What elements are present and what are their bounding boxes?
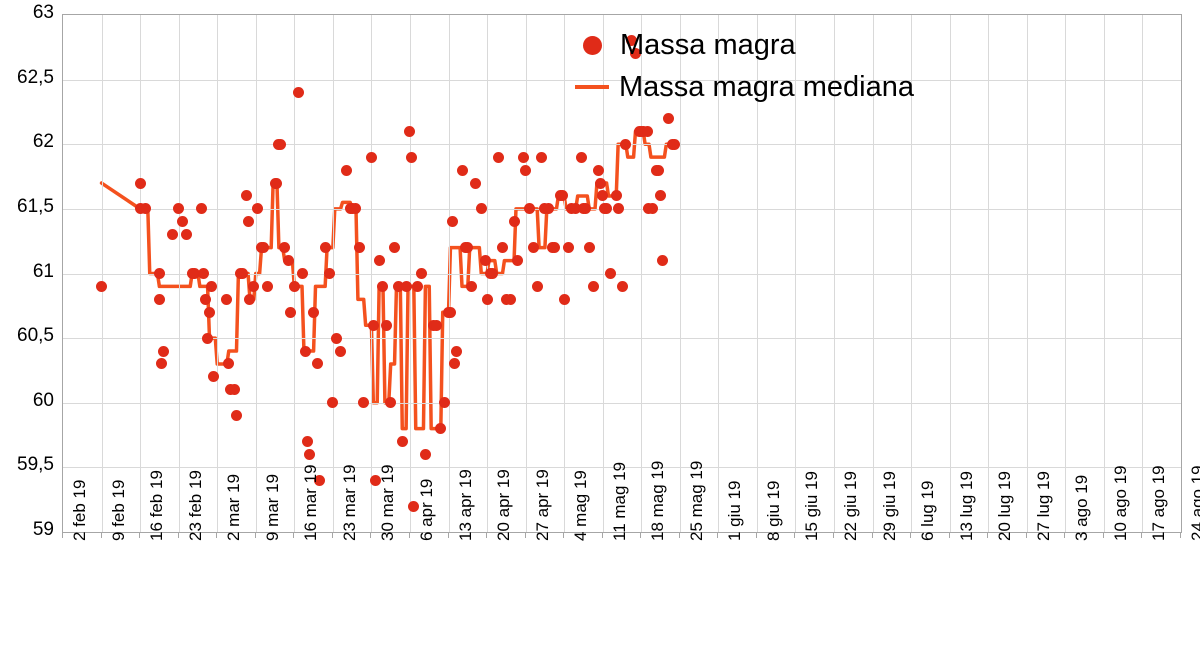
data-point: [642, 126, 653, 137]
gridline-horizontal: [63, 338, 1181, 339]
x-axis-tick-mark: [1064, 532, 1065, 538]
x-axis-tick-label: 2 mar 19: [224, 474, 244, 541]
x-axis-tick-mark: [1026, 532, 1027, 538]
data-point: [135, 178, 146, 189]
data-point: [509, 216, 520, 227]
x-axis-tick-mark: [756, 532, 757, 538]
x-axis-tick-label: 16 mar 19: [301, 464, 321, 541]
x-axis-tick-label: 24 ago 19: [1188, 465, 1200, 541]
data-point: [563, 242, 574, 253]
data-point: [528, 242, 539, 253]
data-point: [154, 294, 165, 305]
x-axis-tick-label: 29 giu 19: [880, 471, 900, 541]
y-axis-tick-label: 60: [2, 390, 54, 412]
x-axis-tick-label: 9 feb 19: [109, 480, 129, 541]
data-point: [381, 320, 392, 331]
gridline-vertical: [449, 15, 450, 532]
x-axis-tick-label: 13 lug 19: [957, 471, 977, 541]
x-axis-tick-mark: [602, 532, 603, 538]
gridline-vertical: [988, 15, 989, 532]
data-point: [493, 152, 504, 163]
x-axis-tick-mark: [833, 532, 834, 538]
x-axis-tick-mark: [101, 532, 102, 538]
x-axis-tick-mark: [293, 532, 294, 538]
x-axis-tick-mark: [679, 532, 680, 538]
data-point: [271, 178, 282, 189]
y-axis-tick-label: 63: [2, 2, 54, 24]
data-point: [397, 436, 408, 447]
data-point: [181, 229, 192, 240]
data-point: [275, 139, 286, 150]
x-axis-tick-mark: [409, 532, 410, 538]
x-axis-tick-label: 18 mag 19: [648, 461, 668, 541]
data-point: [669, 139, 680, 150]
data-point: [663, 113, 674, 124]
x-axis-tick-label: 6 apr 19: [417, 479, 437, 541]
y-axis-tick-label: 61: [2, 261, 54, 283]
data-point: [293, 87, 304, 98]
data-point: [584, 242, 595, 253]
x-axis-tick-label: 27 lug 19: [1034, 471, 1054, 541]
data-point: [613, 203, 624, 214]
data-point: [605, 268, 616, 279]
gridline-horizontal: [63, 274, 1181, 275]
x-axis-tick-mark: [139, 532, 140, 538]
x-axis-tick-label: 23 mar 19: [340, 464, 360, 541]
data-point: [366, 152, 377, 163]
data-point: [368, 320, 379, 331]
data-point: [237, 268, 248, 279]
line-marker-icon: [575, 85, 609, 89]
data-point: [341, 165, 352, 176]
x-axis-tick-label: 10 ago 19: [1111, 465, 1131, 541]
x-axis-tick-label: 15 giu 19: [802, 471, 822, 541]
gridline-vertical: [526, 15, 527, 532]
data-point: [96, 281, 107, 292]
legend-label-0: Massa magra: [620, 29, 796, 62]
data-point: [320, 242, 331, 253]
x-axis-tick-mark: [525, 532, 526, 538]
data-point: [559, 294, 570, 305]
gridline-vertical: [564, 15, 565, 532]
dot-marker-icon: [583, 36, 602, 55]
x-axis-tick-mark: [1141, 532, 1142, 538]
x-axis-tick-label: 20 apr 19: [494, 469, 514, 541]
x-axis-tick-mark: [370, 532, 371, 538]
gridline-vertical: [371, 15, 372, 532]
gridline-vertical: [256, 15, 257, 532]
data-point: [401, 281, 412, 292]
x-axis-tick-mark: [448, 532, 449, 538]
data-point: [532, 281, 543, 292]
x-axis-tick-label: 4 mag 19: [571, 470, 591, 541]
x-axis-tick-mark: [486, 532, 487, 538]
data-point: [200, 294, 211, 305]
median-line: [102, 131, 674, 428]
data-point: [470, 178, 481, 189]
y-axis-tick-label: 61,5: [2, 196, 54, 218]
legend-label-1: Massa magra mediana: [619, 71, 914, 104]
x-axis-tick-mark: [178, 532, 179, 538]
data-point: [324, 268, 335, 279]
legend-item-1: Massa magra mediana: [575, 66, 914, 108]
x-axis-tick-label: 30 mar 19: [378, 464, 398, 541]
x-axis-tick-mark: [987, 532, 988, 538]
x-axis-tick-label: 2 feb 19: [70, 480, 90, 541]
data-point: [158, 346, 169, 357]
gridline-vertical: [1027, 15, 1028, 532]
x-axis-tick-mark: [794, 532, 795, 538]
x-axis-tick-label: 6 lug 19: [918, 481, 938, 542]
data-point: [520, 165, 531, 176]
gridline-horizontal: [63, 403, 1181, 404]
x-axis-tick-label: 13 apr 19: [456, 469, 476, 541]
data-point: [297, 268, 308, 279]
x-axis-tick-label: 8 giu 19: [764, 481, 784, 542]
x-axis-tick-mark: [332, 532, 333, 538]
data-point: [505, 294, 516, 305]
y-axis-tick-label: 62,5: [2, 67, 54, 89]
x-axis-tick-label: 17 ago 19: [1149, 465, 1169, 541]
data-point: [457, 165, 468, 176]
data-point: [518, 152, 529, 163]
data-point: [285, 307, 296, 318]
data-point: [657, 255, 668, 266]
x-axis-tick-mark: [563, 532, 564, 538]
x-axis-tick-mark: [1103, 532, 1104, 538]
data-point: [202, 333, 213, 344]
data-point: [289, 281, 300, 292]
data-point: [262, 281, 273, 292]
y-axis-tick-label: 62: [2, 131, 54, 153]
gridline-vertical: [140, 15, 141, 532]
x-axis-tick-mark: [1180, 532, 1181, 538]
x-axis-tick-label: 22 giu 19: [841, 471, 861, 541]
data-point: [445, 307, 456, 318]
x-axis-tick-label: 1 giu 19: [725, 481, 745, 542]
data-point: [576, 152, 587, 163]
x-axis-tick-label: 20 lug 19: [995, 471, 1015, 541]
data-point: [416, 268, 427, 279]
data-point: [536, 152, 547, 163]
x-axis-tick-mark: [872, 532, 873, 538]
x-axis-tick-label: 23 feb 19: [186, 470, 206, 541]
x-axis-tick-label: 25 mag 19: [687, 461, 707, 541]
data-point: [482, 294, 493, 305]
data-point: [206, 281, 217, 292]
data-point: [300, 346, 311, 357]
x-axis-tick-mark: [255, 532, 256, 538]
x-axis-tick-label: 16 feb 19: [147, 470, 167, 541]
x-axis-tick-mark: [910, 532, 911, 538]
data-point: [204, 307, 215, 318]
data-point: [243, 216, 254, 227]
x-axis-tick-label: 27 apr 19: [533, 469, 553, 541]
gridline-vertical: [950, 15, 951, 532]
data-point: [480, 255, 491, 266]
y-axis-tick-label: 59,5: [2, 454, 54, 476]
data-point: [451, 346, 462, 357]
data-point: [595, 178, 606, 189]
gridline-vertical: [1104, 15, 1105, 532]
x-axis-tick-mark: [640, 532, 641, 538]
x-axis-tick-mark: [717, 532, 718, 538]
data-point: [335, 346, 346, 357]
data-point: [466, 281, 477, 292]
legend: Massa magra Massa magra mediana: [575, 24, 914, 108]
data-point: [420, 449, 431, 460]
gridline-vertical: [1142, 15, 1143, 532]
x-axis-tick-label: 11 mag 19: [610, 462, 630, 541]
x-axis-tick-mark: [62, 532, 63, 538]
y-axis-tick-label: 59: [2, 519, 54, 541]
legend-item-0: Massa magra: [575, 24, 914, 66]
data-point: [653, 165, 664, 176]
gridline-vertical: [410, 15, 411, 532]
data-point: [308, 307, 319, 318]
gridline-vertical: [217, 15, 218, 532]
data-point: [617, 281, 628, 292]
data-point: [154, 268, 165, 279]
gridline-vertical: [1065, 15, 1066, 532]
data-point: [283, 255, 294, 266]
data-point: [374, 255, 385, 266]
x-axis-tick-label: 9 mar 19: [263, 474, 283, 541]
data-point: [593, 165, 604, 176]
gridline-vertical: [102, 15, 103, 532]
chart-container: 6362,56261,56160,56059,559 2 feb 199 feb…: [0, 0, 1200, 646]
gridline-vertical: [179, 15, 180, 532]
x-axis-tick-mark: [949, 532, 950, 538]
x-axis-tick-mark: [216, 532, 217, 538]
y-axis-tick-label: 60,5: [2, 325, 54, 347]
x-axis-tick-label: 3 ago 19: [1072, 475, 1092, 541]
data-point: [588, 281, 599, 292]
data-point: [331, 333, 342, 344]
